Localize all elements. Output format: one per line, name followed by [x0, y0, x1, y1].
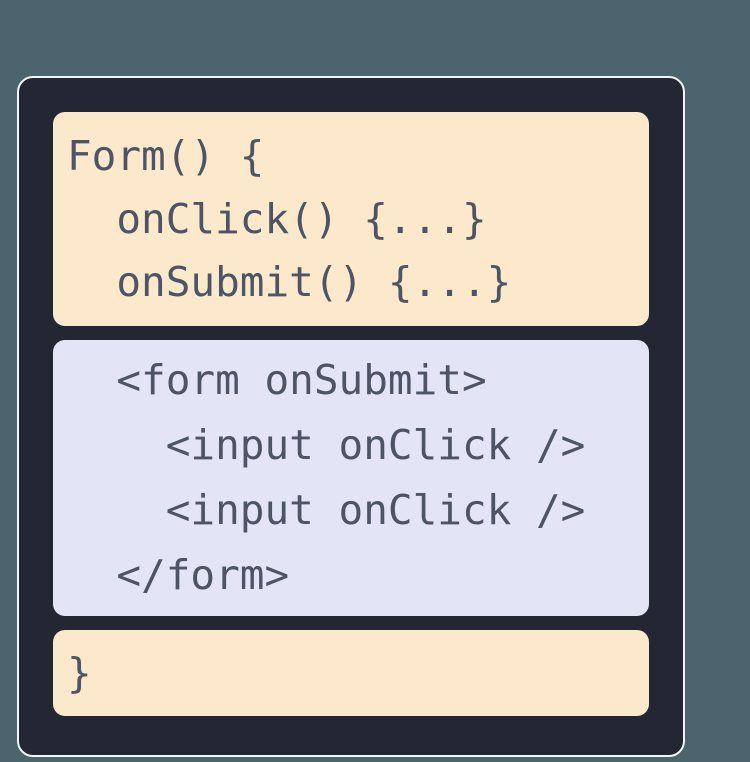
code-line: <input onClick />	[53, 478, 649, 543]
code-block-jsx-markup[interactable]: <form onSubmit> <input onClick /> <input…	[53, 340, 649, 616]
code-panel: Form() { onClick() {...} onSubmit() {...…	[17, 76, 685, 757]
code-line: </form>	[53, 543, 649, 608]
code-line: onSubmit() {...}	[53, 251, 649, 314]
code-line: onClick() {...}	[53, 188, 649, 251]
code-line: <input onClick />	[53, 413, 649, 478]
screenshot-stage: Form() { onClick() {...} onSubmit() {...…	[0, 0, 750, 762]
code-line: <form onSubmit>	[53, 348, 649, 413]
code-block-function-close[interactable]: }	[53, 630, 649, 716]
code-block-function-signature[interactable]: Form() { onClick() {...} onSubmit() {...…	[53, 112, 649, 326]
code-line: }	[53, 630, 649, 716]
code-line: Form() {	[53, 125, 649, 188]
